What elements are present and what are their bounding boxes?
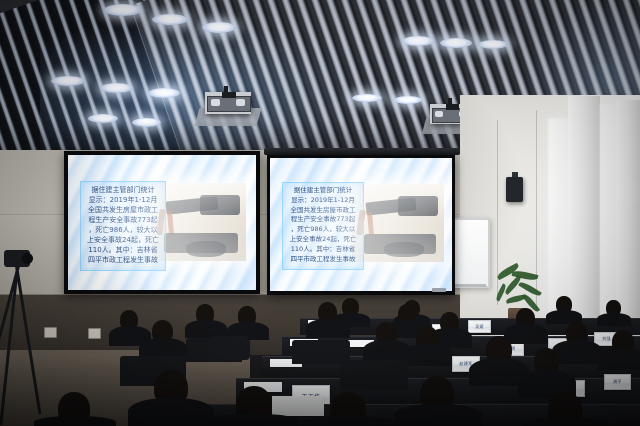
projector-right-lens: [435, 111, 443, 117]
chair-back: [340, 360, 408, 390]
wall-speaker: [506, 177, 523, 202]
meeting-room-photo: 据住建主管部门统计 显示：2019年1-12月 全国共发生房屋市政工 程生产安全…: [0, 0, 640, 426]
slide-text-line: 全国共发生房屋市政工: [283, 206, 363, 216]
ceiling-downlight: [202, 22, 236, 33]
projector-left: [205, 92, 251, 114]
slide-text-line: 程生产安全事故773起: [283, 215, 363, 225]
slide-text-line: 上安全事故24起，死亡: [81, 235, 165, 245]
placard-name: 周平: [613, 379, 622, 385]
slide-photo-left: [152, 183, 246, 261]
attendee-shoulders: [208, 414, 300, 426]
ceiling-downlight: [100, 83, 133, 93]
ceiling-downlight: [352, 94, 382, 102]
photo-overexposure-haze: [152, 183, 246, 261]
slide-text-line: 全国共发生房屋市政工: [81, 205, 165, 215]
slide-text-line: 四平市政工程发生事故: [283, 255, 363, 265]
slide-text-line: 显示：2019年1-12月: [81, 195, 165, 205]
slide-text-line: 显示：2019年1-12月: [283, 196, 363, 206]
attendee-shoulders: [597, 313, 631, 326]
right-screen-roller-housing: [264, 148, 460, 155]
placard-name: 吴斌: [475, 324, 484, 330]
ceiling-downlight: [440, 38, 472, 48]
left-projection-screen[interactable]: 据住建主管部门统计 显示：2019年1-12月 全国共发生房屋市政工 程生产安全…: [68, 155, 256, 290]
slide-text-line: 据住建主管部门统计: [81, 185, 165, 195]
name-placard: 周平: [604, 374, 631, 390]
name-placard: 吴斌: [468, 320, 491, 333]
ceiling-downlight: [148, 88, 180, 98]
attendee-shoulders: [34, 416, 116, 426]
bag-on-desk: [208, 336, 250, 360]
attendee-shoulders: [552, 340, 602, 364]
ceiling-downlight: [152, 14, 188, 25]
attendee-shoulders: [128, 398, 214, 426]
right-projection-screen[interactable]: 据住建主管部门统计 显示：2019年1-12月 全国共发生房屋市政工 程生产安全…: [270, 158, 452, 291]
attendee-shoulders: [598, 348, 640, 370]
slide-text-box-right: 据住建主管部门统计 显示：2019年1-12月 全国共发生房屋市政工 程生产安全…: [282, 182, 364, 270]
ceiling-downlight: [394, 96, 422, 104]
slide-text-line: 程生产安全事故773起: [81, 215, 165, 225]
window-light-panel: [548, 118, 570, 318]
attendee-shoulders: [402, 344, 452, 366]
attendee-shoulders: [302, 416, 394, 426]
whiteboard-pen-tray: [450, 284, 486, 287]
projector-left-bracket: [222, 92, 236, 98]
slide-text-box-left: 据住建主管部门统计 显示：2019年1-12月 全国共发生房屋市政工 程生产安全…: [80, 181, 166, 271]
wall-panel-seam: [536, 110, 537, 310]
projector-left-lens: [236, 99, 245, 106]
placard-name: 刘强: [602, 336, 611, 342]
whiteboard: [450, 218, 490, 288]
structural-pillar: [568, 96, 600, 331]
slide-text-line: 四平市政工程发生事故: [81, 255, 165, 265]
screen-pull-tab[interactable]: [432, 288, 446, 292]
video-camera-lens: [22, 253, 33, 264]
attendee-shoulders: [306, 319, 350, 338]
structural-pillar: [616, 100, 640, 325]
slide-photo-right: [352, 184, 444, 262]
attendee-shoulders: [522, 418, 610, 426]
projector-left-lens: [211, 99, 220, 106]
ceiling-downlight: [478, 40, 508, 49]
photo-overexposure-haze: [352, 184, 444, 262]
slide-text-line: 据住建主管部门统计: [283, 186, 363, 196]
wall-socket: [88, 328, 101, 339]
ceiling-downlight: [104, 4, 142, 16]
attendee-shoulders: [394, 404, 482, 426]
projector-right-bracket: [446, 104, 459, 110]
ceiling-downlight: [51, 76, 85, 86]
attendee-shoulders: [504, 324, 548, 344]
slide-text-line: 上安全事故24起，死亡: [283, 235, 363, 245]
slide-text-line: ，死亡986人，较大以: [283, 225, 363, 235]
paper-sheet: [272, 396, 324, 416]
ceiling-downlight: [402, 36, 434, 46]
slide-text-line: ，死亡986人，较大以: [81, 225, 165, 235]
slide-text-line: 110人。其中：吉林省: [283, 245, 363, 255]
wall-socket: [44, 327, 57, 338]
slide-text-line: 110人。其中：吉林省: [81, 245, 165, 255]
